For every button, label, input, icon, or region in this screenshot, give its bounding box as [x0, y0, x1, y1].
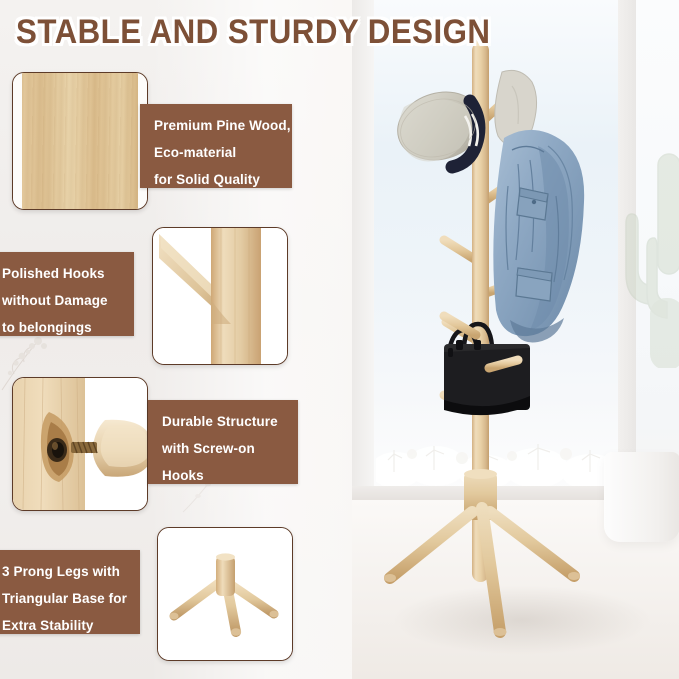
denim-jacket — [493, 70, 584, 342]
feature-line-2: without Damage — [2, 287, 120, 314]
feature-label-three-prong-legs: 3 Prong Legs with Triangular Base for Ex… — [0, 550, 140, 634]
page-title: STABLE AND STURDY DESIGN — [16, 12, 490, 52]
feature-line-1: Premium Pine Wood, — [154, 112, 278, 139]
thumbnail-tripod-base[interactable] — [157, 527, 293, 661]
coat-rack — [352, 0, 679, 679]
product-photo — [352, 0, 679, 679]
screw-on-hook-illustration — [13, 378, 147, 510]
feature-line-3: for Solid Quality — [154, 166, 278, 193]
thumbnail-screw-on-hook[interactable] — [12, 377, 148, 511]
infographic-canvas: STABLE AND STURDY DESIGN Premium Pine Wo… — [0, 0, 679, 679]
feature-line-1: Durable Structure — [162, 408, 284, 435]
feature-line-1: Polished Hooks — [2, 260, 120, 287]
feature-line-2: Eco-material — [154, 139, 278, 166]
feature-line-3: Hooks — [162, 462, 284, 489]
feature-line-3: to belongings — [2, 314, 120, 341]
feature-label-premium-pine-wood: Premium Pine Wood, Eco-material for Soli… — [140, 104, 292, 188]
feature-label-durable-structure: Durable Structure with Screw-on Hooks — [148, 400, 298, 484]
feature-label-polished-hooks: Polished Hooks without Damage to belongi… — [0, 252, 134, 336]
jacket-lower-pocket — [516, 268, 552, 301]
thumbnail-image-screw-hook — [13, 378, 147, 510]
screw-thread — [71, 442, 97, 453]
tripod-base-illustration — [158, 528, 292, 660]
feature-line-1: 3 Prong Legs with — [2, 558, 126, 585]
thumbnail-image-tripod-base — [158, 528, 292, 660]
thumbnail-wood-grain[interactable] — [12, 72, 148, 210]
thumbnail-image-wood-grain — [13, 73, 147, 209]
feature-line-3: Extra Stability — [2, 612, 126, 639]
jacket-chest-pocket — [517, 188, 548, 220]
wood-grain-texture — [22, 73, 138, 209]
thumbnail-polished-hook[interactable] — [152, 227, 288, 365]
feature-line-2: Triangular Base for — [2, 585, 126, 612]
feature-line-2: with Screw-on — [162, 435, 284, 462]
thumbnail-image-hook-joint — [153, 228, 287, 364]
hook-joint-illustration — [153, 228, 287, 364]
